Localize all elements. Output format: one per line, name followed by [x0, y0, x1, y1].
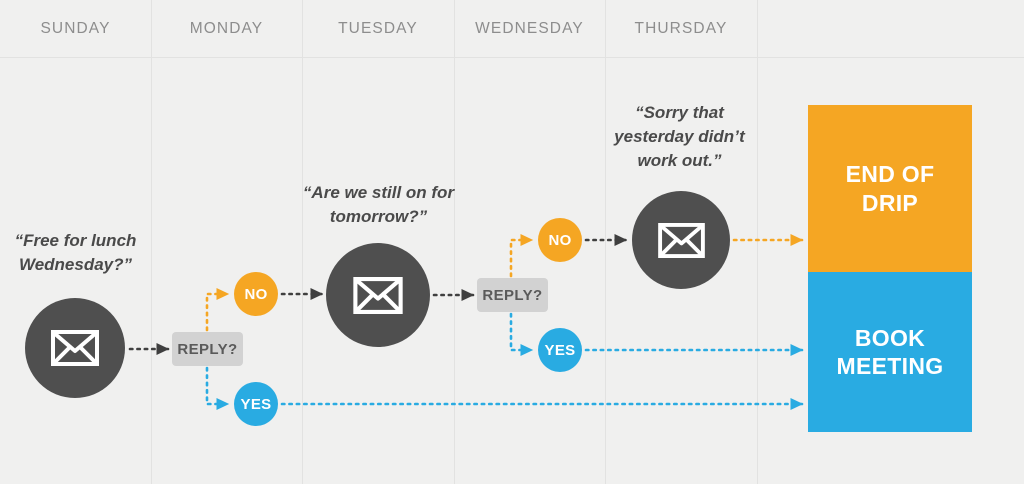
- email-node-sunday[interactable]: [25, 298, 125, 398]
- wire-reply1-to-no: [207, 294, 228, 330]
- envelope-icon: [353, 277, 403, 314]
- decision-badge-no-wednesday[interactable]: NO: [538, 218, 582, 262]
- outcome-end-of-drip-line2: DRIP: [846, 189, 935, 217]
- quote-free-for-lunch: “Free for lunch Wednesday?”: [0, 229, 151, 277]
- envelope-icon: [658, 223, 705, 258]
- reply-box-wednesday[interactable]: REPLY?: [477, 278, 548, 312]
- reply-box-monday[interactable]: REPLY?: [172, 332, 243, 366]
- outcome-book-meeting-line2: MEETING: [837, 352, 944, 380]
- decision-badge-yes-monday[interactable]: YES: [234, 382, 278, 426]
- wire-reply2-to-yes: [511, 314, 532, 350]
- quote-sorry-that: “Sorry that yesterday didn’t work out.”: [601, 101, 758, 173]
- outcome-book-meeting[interactable]: BOOK MEETING: [808, 272, 972, 432]
- decision-badge-yes-wednesday[interactable]: YES: [538, 328, 582, 372]
- envelope-icon: [51, 330, 99, 366]
- drip-campaign-flow-diagram: SUNDAY MONDAY TUESDAY WEDNESDAY THURSDAY: [0, 0, 1024, 484]
- outcome-end-of-drip[interactable]: END OF DRIP: [808, 105, 972, 272]
- wire-reply1-to-yes: [207, 368, 228, 404]
- quote-are-we-still-on: “Are we still on for tomorrow?”: [300, 181, 457, 229]
- decision-badge-no-monday[interactable]: NO: [234, 272, 278, 316]
- email-node-tuesday[interactable]: [326, 243, 430, 347]
- outcome-end-of-drip-line1: END OF: [846, 160, 935, 188]
- wire-reply2-to-no: [511, 240, 532, 276]
- outcome-book-meeting-line1: BOOK: [837, 324, 944, 352]
- email-node-thursday[interactable]: [632, 191, 730, 289]
